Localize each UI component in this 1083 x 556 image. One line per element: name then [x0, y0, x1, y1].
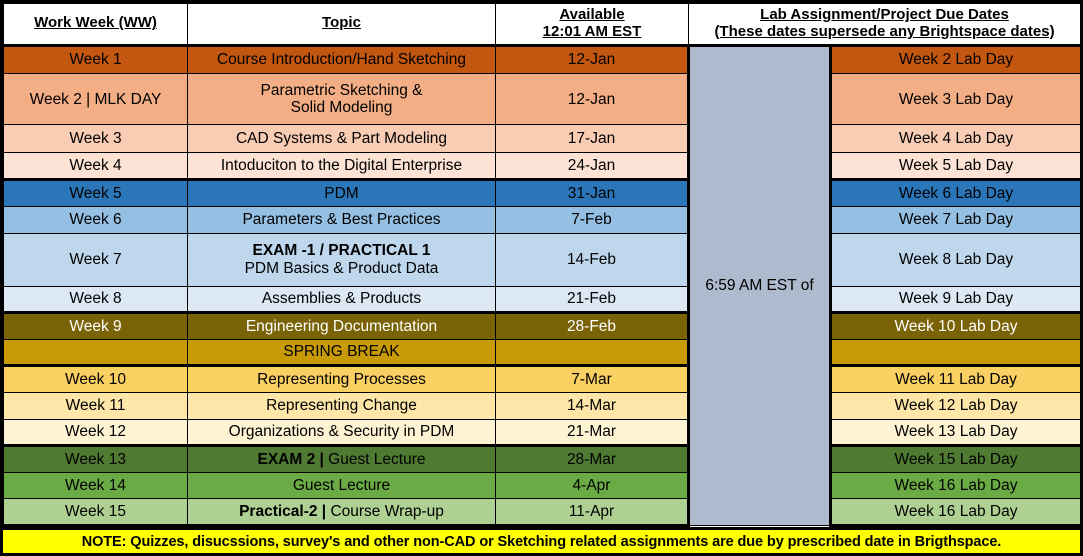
cell-lab-day: Week 8 Lab Day: [831, 233, 1081, 286]
topic-bold-prefix: EXAM 2 |: [257, 451, 323, 468]
course-schedule-table: Work Week (WW) Topic Available 12:01 AM …: [3, 3, 1081, 527]
topic-text: Parameters & Best Practices: [242, 211, 440, 228]
cell-work-week: Week 1: [4, 45, 188, 74]
header-work-week-label: Work Week (WW): [8, 15, 183, 32]
header-work-week: Work Week (WW): [4, 4, 188, 46]
cell-lab-day: Week 15 Lab Day: [831, 446, 1081, 473]
header-row: Work Week (WW) Topic Available 12:01 AM …: [4, 4, 1081, 46]
cell-work-week: Week 13: [4, 446, 188, 473]
header-available-line2: 12:01 AM EST: [500, 24, 684, 41]
cell-available-date: [496, 339, 689, 366]
cell-topic: Practical-2 | Course Wrap-up: [188, 499, 496, 526]
cell-lab-day: Week 16 Lab Day: [831, 472, 1081, 499]
cell-topic: Engineering Documentation: [188, 313, 496, 340]
note-text: NOTE: Quizzes, disucssions, survey's and…: [82, 534, 1002, 550]
cell-available-date: 21-Feb: [496, 286, 689, 313]
cell-work-week: Week 11: [4, 393, 188, 420]
cell-lab-day: Week 2 Lab Day: [831, 45, 1081, 74]
header-lab-line1: Lab Assignment/Project Due Dates: [693, 7, 1076, 24]
header-available-line1: Available: [500, 7, 684, 24]
cell-available-date: 4-Apr: [496, 472, 689, 499]
topic-text: Engineering Documentation: [246, 318, 437, 335]
cell-available-date: 24-Jan: [496, 152, 689, 180]
cell-topic: Organizations & Security in PDM: [188, 419, 496, 446]
header-lab-assignment: Lab Assignment/Project Due Dates (These …: [689, 4, 1081, 46]
topic-bold-prefix: Practical-2 |: [239, 503, 326, 520]
table-row: Week 15Practical-2 | Course Wrap-up11-Ap…: [4, 499, 1081, 526]
cell-lab-day: Week 10 Lab Day: [831, 313, 1081, 340]
topic-line2: Solid Modeling: [191, 99, 492, 116]
cell-topic: Intoduciton to the Digital Enterprise: [188, 152, 496, 180]
cell-available-date: 11-Apr: [496, 499, 689, 526]
cell-lab-day: Week 7 Lab Day: [831, 207, 1081, 234]
header-topic-label: Topic: [192, 15, 491, 32]
cell-work-week: Week 10: [4, 366, 188, 393]
cell-lab-day: Week 6 Lab Day: [831, 180, 1081, 207]
cell-available-date: 28-Mar: [496, 446, 689, 473]
cell-lab-day: Week 12 Lab Day: [831, 393, 1081, 420]
cell-available-date: 7-Feb: [496, 207, 689, 234]
cell-lab-day: Week 5 Lab Day: [831, 152, 1081, 180]
cell-work-week: Week 12: [4, 419, 188, 446]
topic-text: PDM: [324, 185, 358, 202]
cell-available-date: 28-Feb: [496, 313, 689, 340]
cell-work-week: Week 14: [4, 472, 188, 499]
cell-available-date: 21-Mar: [496, 419, 689, 446]
cell-available-date: 7-Mar: [496, 366, 689, 393]
topic-text: Course Wrap-up: [326, 503, 444, 520]
schedule-sheet: Work Week (WW) Topic Available 12:01 AM …: [0, 0, 1083, 556]
cell-available-date: 31-Jan: [496, 180, 689, 207]
table-row: Week 6Parameters & Best Practices7-FebWe…: [4, 207, 1081, 234]
topic-multiline: Parametric Sketching &Solid Modeling: [191, 82, 492, 117]
cell-work-week: [4, 339, 188, 366]
cell-work-week: Week 9: [4, 313, 188, 340]
topic-multiline: EXAM -1 / PRACTICAL 1PDM Basics & Produc…: [191, 242, 492, 277]
table-row: Week 4Intoduciton to the Digital Enterpr…: [4, 152, 1081, 180]
cell-work-week: Week 15: [4, 499, 188, 526]
cell-lab-day: Week 13 Lab Day: [831, 419, 1081, 446]
cell-lab-day: Week 9 Lab Day: [831, 286, 1081, 313]
topic-text: Organizations & Security in PDM: [229, 423, 455, 440]
table-row: Week 12Organizations & Security in PDM21…: [4, 419, 1081, 446]
cell-topic: CAD Systems & Part Modeling: [188, 125, 496, 153]
topic-text: Assemblies & Products: [262, 290, 421, 307]
cell-available-date: 12-Jan: [496, 45, 689, 74]
cell-work-week: Week 8: [4, 286, 188, 313]
topic-text: Course Introduction/Hand Sketching: [217, 51, 466, 68]
table-row: Week 8Assemblies & Products21-FebWeek 9 …: [4, 286, 1081, 313]
topic-text: Representing Change: [266, 397, 417, 414]
topic-text: Guest Lecture: [324, 451, 426, 468]
topic-text: CAD Systems & Part Modeling: [236, 130, 447, 147]
cell-lab-day: Week 3 Lab Day: [831, 74, 1081, 125]
topic-line2: PDM Basics & Product Data: [191, 260, 492, 277]
cell-work-week: Week 2 | MLK DAY: [4, 74, 188, 125]
cell-topic: Course Introduction/Hand Sketching: [188, 45, 496, 74]
merged-due-time-text: 6:59 AM EST of: [705, 277, 813, 294]
table-header: Work Week (WW) Topic Available 12:01 AM …: [4, 4, 1081, 46]
topic-line1: EXAM -1 / PRACTICAL 1: [191, 242, 492, 259]
table-row: Week 13EXAM 2 | Guest Lecture28-MarWeek …: [4, 446, 1081, 473]
table-row: SPRING BREAK: [4, 339, 1081, 366]
header-available: Available 12:01 AM EST: [496, 4, 689, 46]
table-row: Week 11Representing Change14-MarWeek 12 …: [4, 393, 1081, 420]
merged-due-time-cell: 6:59 AM EST of: [689, 45, 831, 525]
cell-available-date: 14-Feb: [496, 233, 689, 286]
note-bar: NOTE: Quizzes, disucssions, survey's and…: [3, 527, 1080, 553]
cell-work-week: Week 5: [4, 180, 188, 207]
cell-work-week: Week 7: [4, 233, 188, 286]
cell-lab-day: Week 4 Lab Day: [831, 125, 1081, 153]
topic-line1: Parametric Sketching &: [191, 82, 492, 99]
cell-topic: EXAM 2 | Guest Lecture: [188, 446, 496, 473]
header-lab-line2: (These dates supersede any Brightspace d…: [693, 24, 1076, 41]
schedule-table-wrap: Work Week (WW) Topic Available 12:01 AM …: [3, 3, 1080, 527]
table-body: Week 1Course Introduction/Hand Sketching…: [4, 45, 1081, 525]
cell-lab-day: [831, 339, 1081, 366]
cell-topic: Representing Change: [188, 393, 496, 420]
table-row: Week 1Course Introduction/Hand Sketching…: [4, 45, 1081, 74]
cell-topic: Assemblies & Products: [188, 286, 496, 313]
cell-topic: EXAM -1 / PRACTICAL 1PDM Basics & Produc…: [188, 233, 496, 286]
cell-topic: SPRING BREAK: [188, 339, 496, 366]
cell-topic: PDM: [188, 180, 496, 207]
topic-text: Guest Lecture: [293, 477, 390, 494]
table-row: Week 2 | MLK DAYParametric Sketching &So…: [4, 74, 1081, 125]
cell-topic: Parameters & Best Practices: [188, 207, 496, 234]
cell-work-week: Week 3: [4, 125, 188, 153]
topic-text: Representing Processes: [257, 371, 426, 388]
table-row: Week 9Engineering Documentation28-FebWee…: [4, 313, 1081, 340]
table-row: Week 7EXAM -1 / PRACTICAL 1PDM Basics & …: [4, 233, 1081, 286]
table-row: Week 10Representing Processes7-MarWeek 1…: [4, 366, 1081, 393]
header-topic: Topic: [188, 4, 496, 46]
cell-work-week: Week 6: [4, 207, 188, 234]
table-row: Week 14Guest Lecture4-AprWeek 16 Lab Day: [4, 472, 1081, 499]
cell-topic: Guest Lecture: [188, 472, 496, 499]
cell-topic: Representing Processes: [188, 366, 496, 393]
table-row: Week 3CAD Systems & Part Modeling17-JanW…: [4, 125, 1081, 153]
topic-text: SPRING BREAK: [283, 343, 399, 360]
cell-available-date: 12-Jan: [496, 74, 689, 125]
topic-text: Intoduciton to the Digital Enterprise: [221, 157, 462, 174]
table-row: Week 5PDM31-JanWeek 6 Lab Day: [4, 180, 1081, 207]
cell-topic: Parametric Sketching &Solid Modeling: [188, 74, 496, 125]
cell-lab-day: Week 11 Lab Day: [831, 366, 1081, 393]
cell-available-date: 14-Mar: [496, 393, 689, 420]
cell-available-date: 17-Jan: [496, 125, 689, 153]
cell-lab-day: Week 16 Lab Day: [831, 499, 1081, 526]
cell-work-week: Week 4: [4, 152, 188, 180]
